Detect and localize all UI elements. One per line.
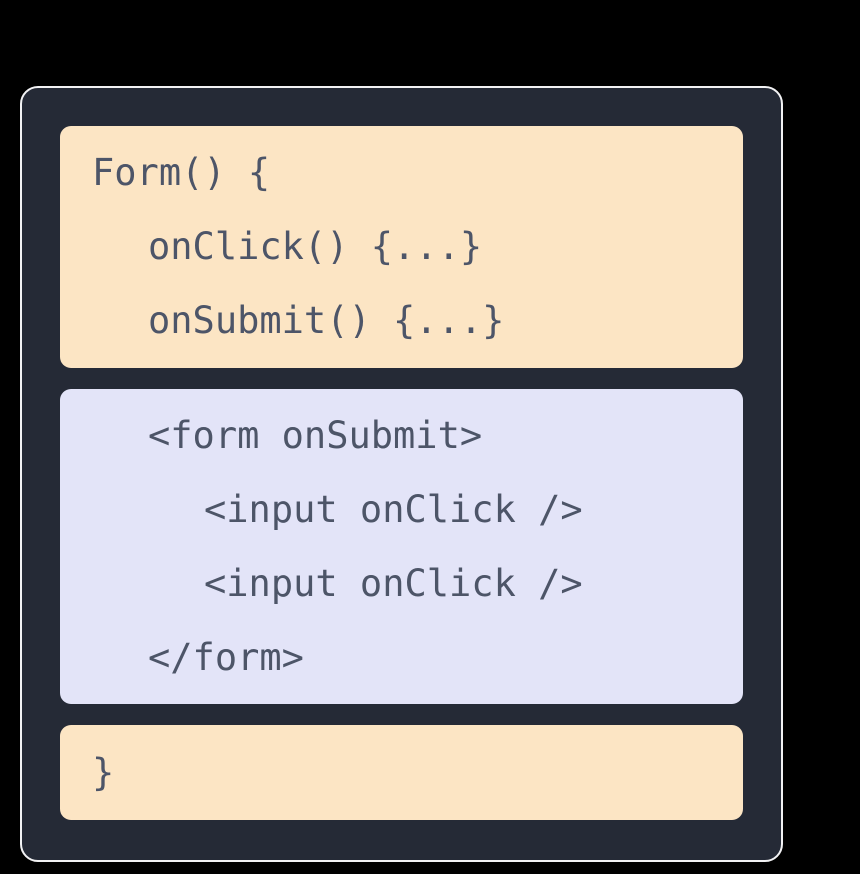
code-line-form-open: Form() { [86,136,717,210]
code-panel-markup: <form onSubmit> <input onClick /> <input… [60,389,743,704]
code-line-form-close: } [86,736,717,810]
code-line-onsubmit-handler: onSubmit() {...} [86,284,717,358]
code-line-input-first: <input onClick /> [86,473,717,547]
code-panel-closing-brace: } [60,725,743,820]
component-code-card: Form() { onClick() {...} onSubmit() {...… [20,86,783,862]
code-line-input-second: <input onClick /> [86,547,717,621]
code-panel-component-scope: Form() { onClick() {...} onSubmit() {...… [60,126,743,368]
code-line-form-tag-open: <form onSubmit> [86,399,717,473]
code-line-onclick-handler: onClick() {...} [86,210,717,284]
code-line-form-tag-close: </form> [86,621,717,695]
